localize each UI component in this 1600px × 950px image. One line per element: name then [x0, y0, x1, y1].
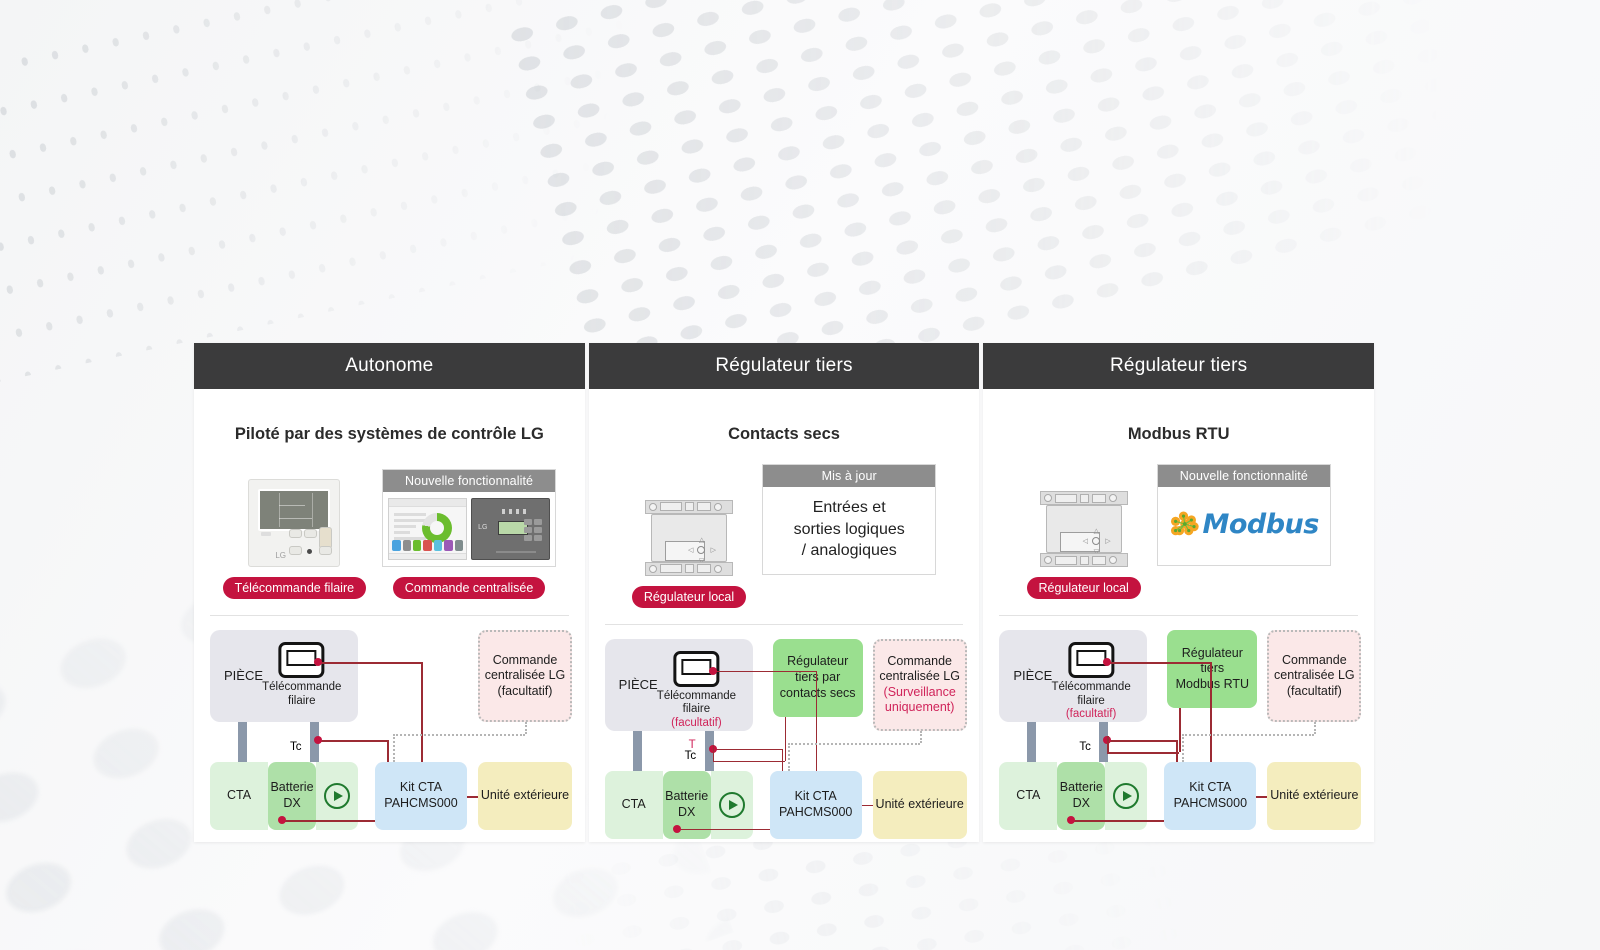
central-control-software-image: [388, 498, 467, 560]
dx-coil-line: Batterie: [270, 780, 313, 796]
comparison-column-3: Régulateur tiers Modbus RTU △◁ ▷▽ Régula…: [983, 343, 1374, 842]
column-body: Contacts secs △◁ ▷▽ Régulateur local Mis…: [589, 389, 980, 842]
feature-card-header: Nouvelle fonctionnalité: [383, 470, 555, 492]
central-control-line: centralisée LG: [485, 668, 566, 684]
remote-caption-line: Télécommande: [657, 690, 736, 704]
node-dx: [278, 816, 286, 824]
product-row: △◁ ▷▽ Régulateur local Mis à jour Entrée…: [605, 464, 964, 608]
central-control-box: Commandecentralisée LG(facultatif): [478, 630, 572, 722]
dotted-central-vertical: [1314, 722, 1316, 734]
wire-tc-to-kit: [713, 749, 782, 751]
node-remote: [709, 667, 717, 675]
dotted-to-kit-vertical: [393, 734, 395, 762]
dx-coil-line: Batterie: [1060, 780, 1103, 796]
product-row: △◁ ▷▽ Régulateur local Nouvelle fonction…: [999, 464, 1358, 599]
column-subtitle: Contacts secs: [605, 425, 964, 444]
wire-third-party-vertical: [1179, 708, 1181, 752]
wired-remote-caption: Télécommandefilaire (facultatif): [1051, 681, 1130, 722]
column-body: Modbus RTU △◁ ▷▽ Régulateur local Nouvel…: [983, 389, 1374, 842]
ahu-label: CTA: [622, 797, 646, 813]
column-header: Régulateur tiers: [589, 343, 980, 389]
central-control-line: uniquement): [885, 700, 955, 716]
system-diagram: PIÈCE Télécommandefilaire Tc CTA Batteri…: [210, 630, 569, 842]
dotted-central-horizontal: [788, 743, 920, 745]
modbus-molecule-icon: [1169, 503, 1201, 545]
room-box: PIÈCE Télécommandefilaire (facultatif): [999, 630, 1147, 722]
central-control-line: (facultatif): [498, 684, 553, 700]
wire-third-party-vertical: [785, 717, 787, 761]
remote-optional-label: (facultatif): [657, 717, 736, 731]
node-remote: [314, 658, 322, 666]
central-control-line: Commande: [1282, 653, 1347, 669]
comparison-board: Autonome Piloté par des systèmes de cont…: [194, 343, 1374, 842]
wire-kit-to-outdoor: [1256, 796, 1267, 798]
outdoor-unit-box: Unité extérieure: [1267, 762, 1361, 830]
feature-card: Nouvelle fonctionnalité LG: [382, 469, 556, 567]
dotted-central-vertical: [525, 722, 527, 734]
local-controller-image: △◁ ▷▽: [1040, 491, 1128, 567]
dotted-to-kit-vertical: [1182, 734, 1184, 762]
ahu-kit-line: PAHCMS000: [779, 805, 852, 821]
feature-text-line: sorties logiques: [769, 519, 929, 541]
remote-caption-line: filaire: [657, 703, 736, 717]
column-body: Piloté par des systèmes de contrôle LG L…: [194, 389, 585, 842]
central-control-line: centralisée LG: [879, 669, 960, 685]
wire-kit-to-outdoor: [467, 796, 478, 798]
ahu-kit-box: Kit CTAPAHCMS000: [1164, 762, 1256, 830]
column-header: Régulateur tiers: [983, 343, 1374, 389]
product-badge: Régulateur local: [632, 586, 746, 608]
wire-dx-to-kit: [282, 820, 375, 822]
central-control-line: (Surveillance: [884, 685, 956, 701]
product-row: LG Télécommande filaire Nouvelle fonctio…: [210, 464, 569, 599]
column-subtitle: Piloté par des systèmes de contrôle LG: [210, 425, 569, 444]
wire-tc-to-kit: [318, 740, 387, 742]
central-control-line: Commande: [493, 653, 558, 669]
wire-kit-vertical: [816, 671, 818, 771]
ahu-kit-line: Kit CTA: [400, 780, 442, 796]
dotted-central-horizontal: [1182, 734, 1314, 736]
wired-remote-caption: Télécommandefilaire (facultatif): [657, 690, 736, 731]
room-label: PIÈCE: [1013, 668, 1052, 684]
product-badge: Télécommande filaire: [223, 577, 367, 599]
node-dx: [673, 825, 681, 833]
central-control-box: Commandecentralisée LG(Surveillanceuniqu…: [873, 639, 967, 731]
feature-card-header: Mis à jour: [763, 465, 935, 487]
wire-third-party-down: [1107, 736, 1109, 752]
room-leg-left: [633, 731, 642, 771]
ahu-kit-line: Kit CTA: [795, 789, 837, 805]
room-label: PIÈCE: [619, 677, 658, 693]
wire-third-party-horizontal: [713, 761, 785, 763]
central-control-box: Commandecentralisée LG(facultatif): [1267, 630, 1361, 722]
central-control-line: centralisée LG: [1274, 668, 1355, 684]
wire-tc-to-kit: [1107, 740, 1176, 742]
wire-dx-to-kit: [1071, 820, 1164, 822]
feature-text-line: / analogiques: [769, 540, 929, 562]
wire-remote-to-kit: [318, 662, 421, 664]
wired-remote-controller-image: LG: [248, 479, 340, 567]
remote-caption-line: filaire: [1051, 695, 1130, 709]
feature-card: Mis à jour Entrées etsorties logiques/ a…: [762, 464, 936, 575]
product-badge: Commande centralisée: [393, 577, 546, 599]
room-leg-left: [238, 722, 247, 762]
fan-icon: [719, 792, 745, 818]
node-tc: [314, 736, 322, 744]
outdoor-unit-box: Unité extérieure: [478, 762, 572, 830]
wire-remote-to-kit: [713, 671, 816, 673]
ahu-box: CTA: [999, 762, 1057, 830]
fan-icon: [1113, 783, 1139, 809]
wire-third-party-down: [713, 745, 715, 761]
section-divider: [605, 624, 964, 625]
product-item: Mis à jour Entrées etsorties logiques/ a…: [762, 464, 936, 608]
outdoor-unit-box: Unité extérieure: [873, 771, 967, 839]
dx-coil-line: DX: [283, 796, 300, 812]
third-party-controller-box: Régulateurtiers parcontacts secs: [773, 639, 863, 717]
tc-label: Tc: [1079, 741, 1091, 753]
wired-remote-caption: Télécommandefilaire: [262, 681, 341, 708]
third-party-line: Régulateur: [787, 654, 848, 670]
remote-caption-line: Télécommande: [262, 681, 341, 695]
third-party-line: Régulateur: [1182, 646, 1243, 662]
feature-card-header: Nouvelle fonctionnalité: [1158, 465, 1330, 487]
dx-coil-line: DX: [678, 805, 695, 821]
room-label: PIÈCE: [224, 668, 263, 684]
feature-card: Nouvelle fonctionnalité Modbus: [1157, 464, 1331, 566]
dotted-central-vertical: [920, 731, 922, 743]
product-badge: Régulateur local: [1027, 577, 1141, 599]
t-label: T: [689, 739, 696, 751]
dx-coil-line: DX: [1073, 796, 1090, 812]
wire-dx-to-kit: [677, 829, 770, 831]
wired-remote-group: Télécommandefilaire (facultatif): [657, 651, 736, 731]
wired-remote-group: Télécommandefilaire (facultatif): [1051, 642, 1130, 722]
wire-tc-vertical: [782, 749, 784, 771]
wire-tc-vertical: [387, 740, 389, 762]
wired-remote-group: Télécommandefilaire: [262, 642, 341, 708]
modbus-logo: Modbus: [1169, 495, 1319, 553]
room-box: PIÈCE Télécommandefilaire: [210, 630, 358, 722]
remote-caption-line: filaire: [262, 695, 341, 709]
tc-label: Tc: [685, 750, 697, 762]
section-divider: [210, 615, 569, 616]
outdoor-unit-label: Unité extérieure: [481, 788, 569, 804]
dx-coil-line: Batterie: [665, 789, 708, 805]
ahu-kit-line: Kit CTA: [1189, 780, 1231, 796]
ahu-kit-box: Kit CTAPAHCMS000: [770, 771, 862, 839]
dotted-to-kit-vertical: [788, 743, 790, 771]
ahu-kit-line: PAHCMS000: [1174, 796, 1247, 812]
ahu-kit-box: Kit CTAPAHCMS000: [375, 762, 467, 830]
ahu-box: CTA: [210, 762, 268, 830]
modbus-wordmark: Modbus: [1202, 509, 1318, 540]
wire-kit-to-outdoor: [862, 805, 873, 807]
fan-icon: [324, 783, 350, 809]
product-item: Nouvelle fonctionnalité LG Commande cent…: [382, 469, 556, 599]
feature-text-line: Entrées et: [769, 497, 929, 519]
third-party-controller-box: RégulateurtiersModbus RTU: [1167, 630, 1257, 708]
system-diagram: PIÈCE Télécommandefilaire (facultatif) T…: [999, 630, 1358, 842]
local-controller-image: △◁ ▷▽: [645, 500, 733, 576]
ahu-kit-line: PAHCMS000: [384, 796, 457, 812]
remote-caption-line: Télécommande: [1051, 681, 1130, 695]
column-subtitle: Modbus RTU: [999, 425, 1358, 444]
system-diagram: PIÈCE Télécommandefilaire (facultatif) T…: [605, 639, 964, 842]
ahu-box: CTA: [605, 771, 663, 839]
wire-kit-vertical: [1210, 662, 1212, 762]
outdoor-unit-label: Unité extérieure: [1270, 788, 1358, 804]
central-control-line: Commande: [887, 654, 952, 670]
wire-tc-vertical: [1176, 740, 1178, 762]
wire-third-party-horizontal: [1107, 752, 1179, 754]
third-party-line: Modbus RTU: [1176, 677, 1249, 693]
comparison-column-2: Régulateur tiers Contacts secs △◁ ▷▽ Rég…: [589, 343, 980, 842]
room-box: PIÈCE Télécommandefilaire (facultatif): [605, 639, 753, 731]
product-item: △◁ ▷▽ Régulateur local: [632, 500, 746, 608]
column-header: Autonome: [194, 343, 585, 389]
wire-kit-vertical: [421, 662, 423, 762]
tc-label: Tc: [290, 741, 302, 753]
room-leg-left: [1027, 722, 1036, 762]
outdoor-unit-label: Unité extérieure: [876, 797, 964, 813]
product-item: Nouvelle fonctionnalité Modbus: [1157, 464, 1331, 599]
ahu-label: CTA: [1016, 788, 1040, 804]
central-control-line: (facultatif): [1287, 684, 1342, 700]
ahu-label: CTA: [227, 788, 251, 804]
section-divider: [999, 615, 1358, 616]
dotted-central-horizontal: [393, 734, 525, 736]
wire-remote-to-kit: [1107, 662, 1210, 664]
remote-optional-label: (facultatif): [1051, 708, 1130, 722]
ac-smart-controller-image: LG: [471, 498, 550, 560]
third-party-line: contacts secs: [780, 686, 856, 702]
comparison-column-1: Autonome Piloté par des systèmes de cont…: [194, 343, 585, 842]
product-item: LG Télécommande filaire: [223, 479, 367, 599]
product-item: △◁ ▷▽ Régulateur local: [1027, 491, 1141, 599]
